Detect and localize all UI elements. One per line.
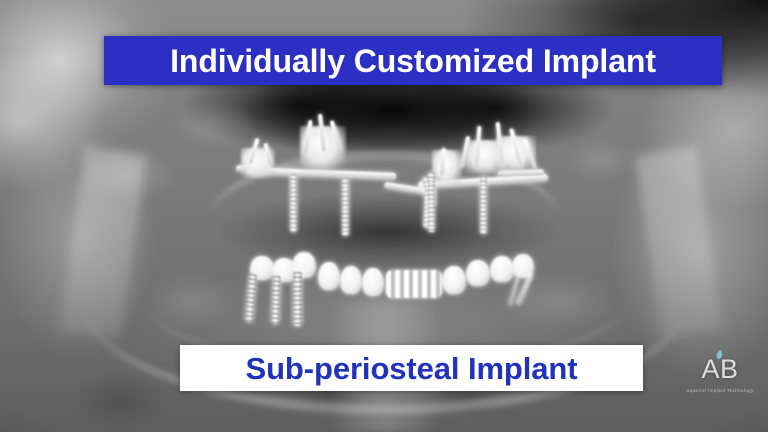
logo-letters: AB (701, 356, 738, 383)
upper-abutment-post-5 (428, 172, 435, 232)
framework-mesh-node-3 (432, 150, 462, 186)
top-caption-text: Individually Customized Implant (170, 45, 656, 77)
upper-abutment-post-2 (342, 178, 349, 236)
lower-crown-4 (318, 262, 340, 290)
top-caption-banner: Individually Customized Implant (104, 36, 722, 85)
lower-crown-9 (490, 256, 514, 282)
brand-logo: AB Superior Implant Technology (678, 356, 762, 408)
lower-crown-5 (340, 266, 362, 294)
lower-crown-7 (442, 266, 466, 294)
bottom-caption-banner: Sub-periosteal Implant (180, 345, 643, 391)
lower-bridge-pontic (386, 270, 442, 298)
upper-abutment-post-6 (480, 176, 487, 234)
lower-implant-fixture-1 (245, 274, 257, 323)
lower-implant-fixture-3 (293, 272, 302, 326)
screenshot-root: Individually Customized Implant Sub-peri… (0, 0, 768, 432)
logo-tagline: Superior Implant Technology (686, 388, 754, 393)
bottom-caption-text: Sub-periosteal Implant (246, 353, 578, 384)
lower-crown-6 (362, 268, 384, 296)
upper-abutment-post-1 (290, 174, 297, 232)
lower-implant-fixture-2 (271, 276, 281, 324)
lower-crown-8 (466, 260, 490, 286)
